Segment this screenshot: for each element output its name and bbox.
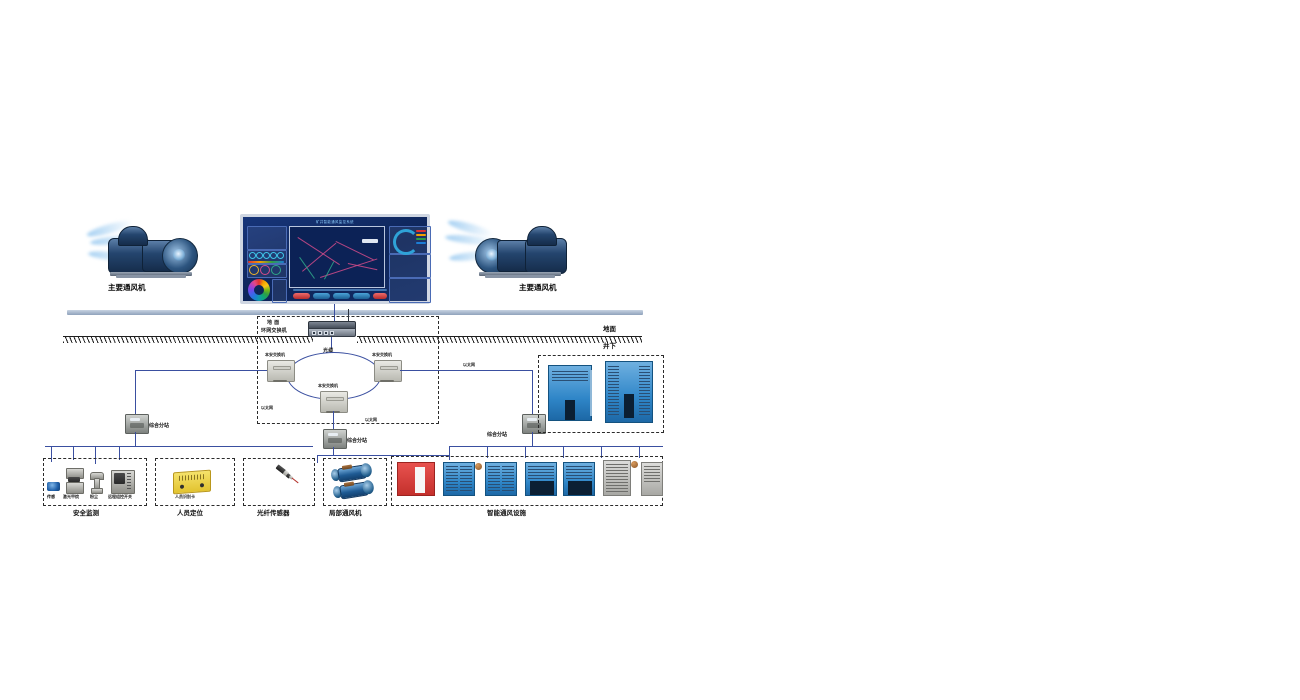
ground-label: 地面: [603, 326, 616, 333]
ground-ring-switch: [308, 321, 356, 337]
ethernet-label-right: 以太网: [463, 363, 475, 367]
monitor-legend-swatch: [416, 234, 426, 236]
substation-left: [125, 414, 149, 434]
monitor-action-button[interactable]: [293, 293, 310, 299]
ethernet-label-mid: 以太网: [365, 418, 377, 422]
monitor-dial-icon: [271, 265, 281, 275]
remote-control-switch-device: [111, 470, 133, 492]
monitor-screen-tooltip: [362, 239, 378, 243]
monitor-legend-swatch: [416, 230, 426, 232]
main-ventilator-left-label: 主要通风机: [108, 282, 146, 293]
ring-switch-label-line1: 地 面: [267, 321, 279, 326]
link-right-switch: [400, 370, 533, 371]
central-monitor: 矿井智能通风监控系统: [240, 214, 430, 304]
air-door-1: [443, 462, 475, 496]
switch-foot: [273, 380, 287, 382]
group-caption-safety-monitoring: 安全监测: [73, 510, 99, 517]
counterweight-ball-2: [631, 461, 638, 468]
monitor-action-button[interactable]: [353, 293, 370, 299]
underground-label: 井下: [603, 343, 616, 350]
switch-foot: [380, 380, 394, 382]
air-door-2: [485, 462, 517, 496]
main-ventilator-left: 主要通风机: [90, 218, 210, 296]
monitor-gauge-icon: [249, 252, 256, 259]
monitor-gauge-icon: [263, 252, 270, 259]
monitor-gauge-icon: [277, 252, 284, 259]
main-ventilator-right-label: 主要通风机: [519, 282, 557, 293]
air-door-large-right: [605, 361, 653, 423]
air-door-4: [563, 462, 595, 496]
air-door-3: [525, 462, 557, 496]
intrinsically-safe-switch-left: [267, 360, 295, 382]
bus-left: [45, 446, 313, 447]
is-switch-left-label: 本安交换机: [265, 353, 285, 357]
device-label-dust: 粉尘: [90, 495, 98, 499]
monitor-legend-panel: [272, 279, 287, 303]
ventilation-facility-red-frame: [397, 462, 435, 496]
monitor-gauge-icon: [270, 252, 277, 259]
air-regulator-1: [603, 460, 631, 496]
link-left-down: [135, 370, 136, 414]
intrinsically-safe-switch-bottom: [320, 391, 348, 413]
substation-mid: [323, 429, 347, 449]
bus-drop-mid: [333, 447, 334, 455]
substation-right-label: 综合分站: [487, 433, 507, 438]
monitor-right-panel-mid: [389, 254, 431, 278]
air-regulator-2: [641, 462, 663, 496]
dust-sensor-device: [90, 472, 102, 492]
ring-switch-label-line2: 环网交换机: [261, 329, 287, 334]
figure-canvas: 矿井智能通风监控系统: [0, 0, 1300, 700]
monitor-dial-icon: [249, 265, 259, 275]
monitor-legend-swatch: [416, 242, 426, 244]
monitor-legend-swatch: [416, 238, 426, 240]
monitor-right-panel-low: [389, 278, 431, 303]
monitor-left-panel-top: [247, 226, 287, 250]
intrinsically-safe-switch-right: [374, 360, 402, 382]
personnel-id-card: [173, 470, 211, 495]
group-caption-intelligent-ventilation: 智能通风设施: [487, 510, 526, 517]
monitor-color-wheel-icon: [248, 279, 270, 301]
bus-right: [449, 446, 663, 447]
main-ventilator-right: 主要通风机: [457, 218, 577, 296]
monitor-action-button[interactable]: [333, 293, 350, 299]
device-label-laser-methane: 激光甲烷: [63, 495, 79, 499]
group-caption-personnel-positioning: 人员定位: [177, 510, 203, 517]
substation-mid-label: 综合分站: [347, 439, 367, 444]
substation-left-label: 综合分站: [149, 424, 169, 429]
counterweight-ball-1: [475, 463, 482, 470]
monitor-color-bar: [248, 261, 284, 263]
device-label-remote-switch: 远程组控开关: [108, 495, 132, 499]
link-mid-down: [333, 411, 334, 429]
monitor-screen-title: 矿井智能通风监控系统: [243, 219, 427, 224]
group-caption-fiber-sensor: 光纤传感器: [257, 510, 290, 517]
monitor-gauge-icon: [256, 252, 263, 259]
surface-deck: [67, 310, 643, 315]
drop-device: [317, 455, 318, 463]
monitor-action-button[interactable]: [313, 293, 330, 299]
is-switch-bottom-label: 本安交换机: [318, 384, 338, 388]
device-label-sensor: 传感: [47, 495, 55, 499]
group-caption-local-ventilator: 局部通风机: [329, 510, 362, 517]
monitor-dial-icon: [260, 265, 270, 275]
bus-drop-left: [135, 432, 136, 446]
monitor-divider: [293, 289, 387, 291]
link-right-down: [532, 370, 533, 414]
device-label-personnel-card: 人员识别卡: [175, 495, 195, 499]
monitor-action-button[interactable]: [373, 293, 387, 299]
link-left-switch: [135, 370, 267, 371]
air-door-large-left: [548, 365, 592, 421]
laser-methane-device: [66, 468, 82, 492]
monitor-main-screen: [289, 226, 385, 288]
ventilation-network-diagram: 矿井智能通风监控系统: [35, 200, 675, 530]
gas-sensor-device: [47, 482, 60, 491]
ethernet-label-left: 以太网: [261, 406, 273, 410]
bus-drop-right: [532, 432, 533, 446]
door-frame-post: [590, 370, 592, 416]
is-switch-right-label: 本安交换机: [372, 353, 392, 357]
